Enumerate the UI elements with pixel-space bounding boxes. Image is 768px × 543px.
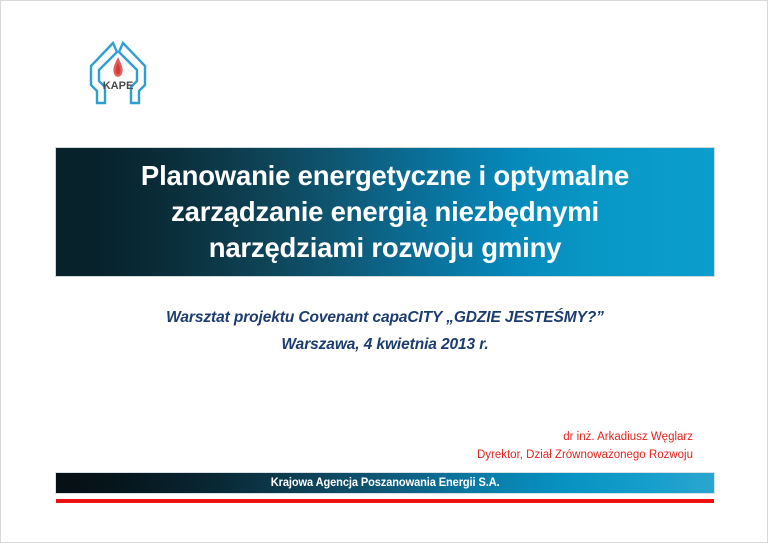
kape-logo: KAPE <box>83 37 153 109</box>
author-name: dr inż. Arkadiusz Węglarz <box>477 428 693 446</box>
subtitle-line-1: Warsztat projektu Covenant capaCITY „GDZ… <box>1 304 768 331</box>
title-banner: Planowanie energetyczne i optymalne zarz… <box>56 148 714 276</box>
kape-wordmark: KAPE <box>103 80 134 92</box>
footer-bar: Krajowa Agencja Poszanowania Energii S.A… <box>56 473 714 493</box>
author-title: Dyrektor, Dział Zrównoważonego Rozwoju <box>477 446 693 464</box>
author-block: dr inż. Arkadiusz Węglarz Dyrektor, Dzia… <box>477 428 693 464</box>
kape-logo-icon: KAPE <box>83 37 153 109</box>
title-line-2: zarządzanie energią niezbędnymi <box>171 194 599 230</box>
title-line-3: narzędziami rozwoju gminy <box>209 230 562 266</box>
presentation-slide: KAPE Planowanie energetyczne i optymalne… <box>0 0 768 543</box>
subtitle-block: Warsztat projektu Covenant capaCITY „GDZ… <box>1 304 768 358</box>
footer-red-rule <box>56 499 714 503</box>
subtitle-line-2: Warszawa, 4 kwietnia 2013 r. <box>1 331 768 358</box>
footer-organization: Krajowa Agencja Poszanowania Energii S.A… <box>271 477 500 489</box>
title-line-1: Planowanie energetyczne i optymalne <box>141 158 629 194</box>
